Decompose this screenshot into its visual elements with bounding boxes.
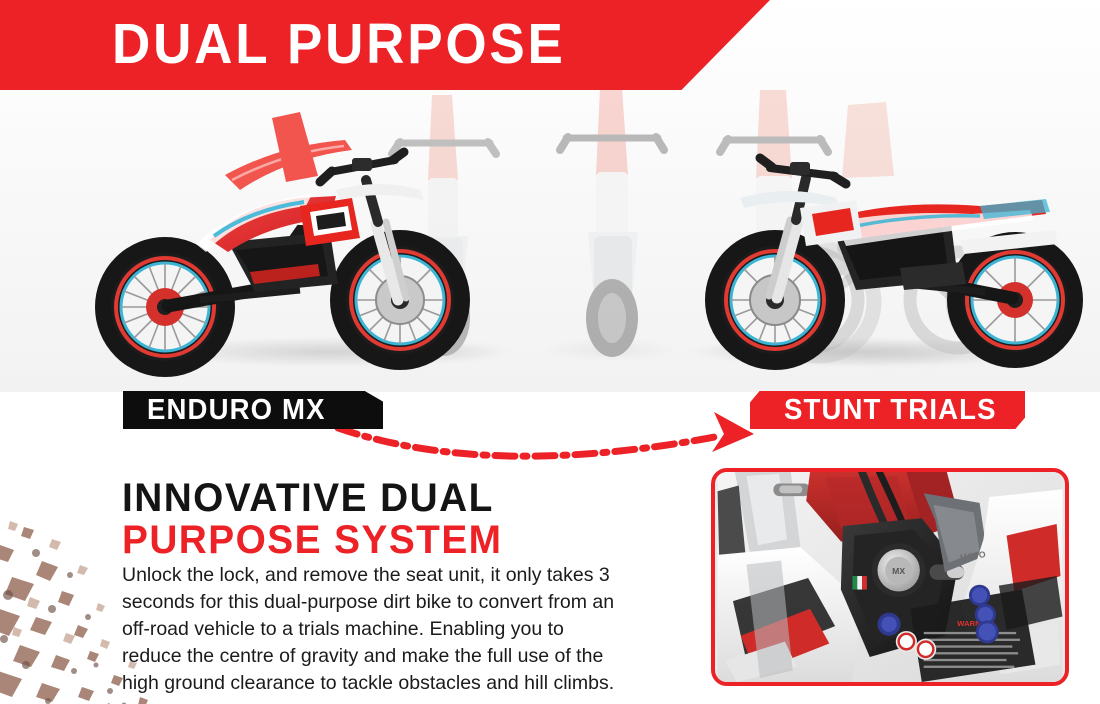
- headline-block: INNOVATIVE DUAL PURPOSE SYSTEM: [122, 477, 514, 561]
- flag-sticker: [852, 576, 866, 589]
- transition-arrow: [330, 400, 770, 460]
- arrow-dashed-path: [338, 428, 720, 456]
- arrow-head-icon: [712, 412, 754, 452]
- seat-lock-detail-photo: MX WARNING: [711, 468, 1069, 686]
- badge-enduro-mx[interactable]: ENDURO MX: [123, 391, 383, 429]
- poster-page: DUAL PURPOSE ENDURO MX STUNT TRIALS: [0, 0, 1100, 704]
- badge-stunt-trials[interactable]: STUNT TRIALS: [750, 391, 1025, 429]
- headline-line-2: PURPOSE SYSTEM: [122, 519, 502, 561]
- body-paragraph: Unlock the lock, and remove the seat uni…: [122, 562, 622, 697]
- badge-stunt-trials-label: STUNT TRIALS: [784, 394, 997, 427]
- banner-title: DUAL PURPOSE: [112, 9, 566, 79]
- svg-text:MX: MX: [892, 566, 905, 576]
- badge-enduro-mx-label: ENDURO MX: [147, 394, 326, 427]
- headline-line-1: INNOVATIVE DUAL: [122, 477, 502, 519]
- dual-purpose-banner: DUAL PURPOSE: [0, 0, 770, 90]
